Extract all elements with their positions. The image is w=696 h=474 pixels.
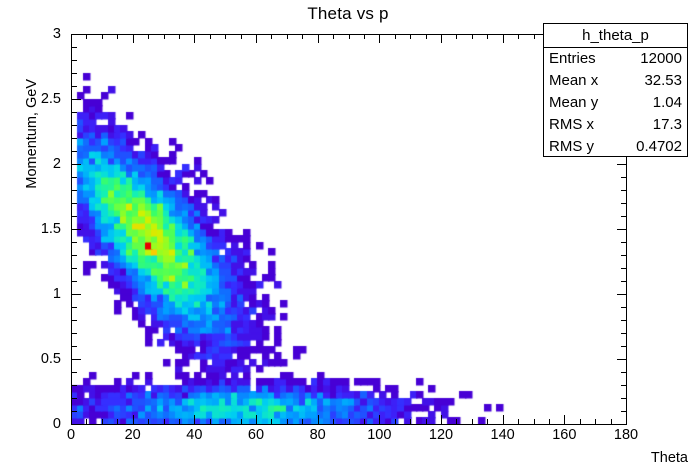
x-tick bbox=[364, 419, 365, 424]
x-tick-top bbox=[179, 34, 180, 39]
page-title: Theta vs p bbox=[0, 4, 696, 24]
x-tick-top bbox=[102, 34, 103, 39]
y-tick bbox=[72, 34, 81, 35]
y-tick bbox=[72, 86, 77, 87]
y-tick-right bbox=[617, 294, 626, 295]
x-tick bbox=[117, 419, 118, 424]
y-tick-label: 2.5 bbox=[41, 91, 61, 107]
x-tick-top bbox=[164, 34, 165, 39]
x-tick bbox=[287, 419, 288, 424]
y-tick bbox=[72, 268, 77, 269]
x-tick-top bbox=[534, 34, 535, 39]
x-tick bbox=[133, 415, 134, 424]
x-tick bbox=[86, 419, 87, 424]
y-tick-right bbox=[617, 424, 626, 425]
y-tick bbox=[72, 255, 77, 256]
y-tick bbox=[72, 125, 77, 126]
x-tick-top bbox=[302, 34, 303, 39]
x-tick-top bbox=[395, 34, 396, 39]
x-tick-label: 100 bbox=[367, 427, 391, 443]
y-axis-title-wrapper: Momentum, GeV bbox=[14, 45, 34, 245]
y-tick bbox=[72, 385, 77, 386]
y-tick-right bbox=[621, 346, 626, 347]
x-tick-label: 140 bbox=[491, 427, 515, 443]
x-tick-top bbox=[518, 34, 519, 39]
y-tick bbox=[72, 151, 77, 152]
x-tick bbox=[179, 419, 180, 424]
x-tick bbox=[349, 419, 350, 424]
x-tick-top bbox=[271, 34, 272, 39]
y-tick bbox=[72, 307, 77, 308]
y-tick-right bbox=[621, 216, 626, 217]
x-tick-top bbox=[225, 34, 226, 39]
y-tick-label: 0 bbox=[53, 416, 61, 432]
stats-box[interactable]: h_theta_p Entries12000Mean x32.53Mean y1… bbox=[543, 23, 688, 157]
x-tick-top bbox=[379, 34, 380, 43]
x-tick bbox=[256, 415, 257, 424]
y-tick bbox=[72, 203, 77, 204]
x-tick-top bbox=[364, 34, 365, 39]
y-tick bbox=[72, 398, 77, 399]
y-tick-right bbox=[621, 385, 626, 386]
y-tick-right bbox=[621, 203, 626, 204]
y-tick-right bbox=[621, 372, 626, 373]
x-tick-top bbox=[194, 34, 195, 43]
x-tick-top bbox=[487, 34, 488, 39]
x-tick bbox=[441, 415, 442, 424]
stats-row: Mean y1.04 bbox=[544, 92, 687, 114]
stats-value: 12000 bbox=[640, 48, 682, 70]
x-tick-top bbox=[318, 34, 319, 43]
y-tick bbox=[72, 190, 77, 191]
y-tick-label: 1.5 bbox=[41, 221, 61, 237]
y-tick bbox=[72, 229, 81, 230]
x-axis-title: Theta bbox=[651, 450, 688, 466]
x-tick-label: 60 bbox=[248, 427, 264, 443]
y-tick bbox=[72, 333, 77, 334]
x-tick-label: 180 bbox=[614, 427, 638, 443]
x-tick-top bbox=[426, 34, 427, 39]
x-tick bbox=[611, 419, 612, 424]
x-tick bbox=[549, 419, 550, 424]
stats-key: RMS y bbox=[549, 136, 594, 158]
x-tick-top bbox=[133, 34, 134, 43]
y-tick bbox=[72, 372, 77, 373]
root-canvas: Theta vs p 02040608010012014016018000.51… bbox=[0, 0, 696, 474]
x-tick bbox=[472, 419, 473, 424]
x-tick bbox=[580, 419, 581, 424]
stats-value: 1.04 bbox=[653, 92, 682, 114]
x-tick bbox=[102, 419, 103, 424]
stats-row: RMS y0.4702 bbox=[544, 136, 687, 158]
y-tick bbox=[72, 216, 77, 217]
x-tick bbox=[71, 415, 72, 424]
stats-value: 32.53 bbox=[644, 70, 682, 92]
stats-box-rows: Entries12000Mean x32.53Mean y1.04RMS x17… bbox=[544, 48, 687, 158]
stats-row: Mean x32.53 bbox=[544, 70, 687, 92]
y-tick bbox=[72, 60, 77, 61]
y-tick-right bbox=[621, 255, 626, 256]
x-tick bbox=[318, 415, 319, 424]
x-tick-top bbox=[86, 34, 87, 39]
stats-value: 17.3 bbox=[653, 114, 682, 136]
x-tick bbox=[426, 419, 427, 424]
y-tick bbox=[72, 281, 77, 282]
stats-value: 0.4702 bbox=[636, 136, 682, 158]
x-tick bbox=[164, 419, 165, 424]
y-tick bbox=[72, 242, 77, 243]
x-tick-top bbox=[148, 34, 149, 39]
y-tick-right bbox=[621, 190, 626, 191]
y-tick-right bbox=[621, 411, 626, 412]
y-tick-right bbox=[621, 242, 626, 243]
x-tick bbox=[518, 419, 519, 424]
x-tick-top bbox=[472, 34, 473, 39]
y-tick-label: 2 bbox=[53, 156, 61, 172]
x-tick bbox=[241, 419, 242, 424]
y-tick bbox=[72, 47, 77, 48]
x-tick bbox=[410, 419, 411, 424]
y-tick bbox=[72, 424, 81, 425]
y-tick-right bbox=[617, 229, 626, 230]
x-tick bbox=[302, 419, 303, 424]
y-tick-right bbox=[621, 177, 626, 178]
x-tick-top bbox=[333, 34, 334, 39]
y-tick-right bbox=[621, 320, 626, 321]
x-tick-top bbox=[456, 34, 457, 39]
y-tick-right bbox=[617, 359, 626, 360]
stats-row: RMS x17.3 bbox=[544, 114, 687, 136]
y-tick-right bbox=[621, 398, 626, 399]
x-tick-top bbox=[287, 34, 288, 39]
y-axis-title: Momentum, GeV bbox=[24, 79, 40, 189]
x-tick-top bbox=[71, 34, 72, 43]
stats-key: Mean x bbox=[549, 70, 598, 92]
x-tick-top bbox=[441, 34, 442, 43]
y-tick bbox=[72, 177, 77, 178]
x-tick bbox=[379, 415, 380, 424]
x-tick bbox=[534, 419, 535, 424]
y-tick bbox=[72, 411, 77, 412]
x-tick bbox=[456, 419, 457, 424]
y-tick bbox=[72, 294, 81, 295]
x-tick-label: 120 bbox=[429, 427, 453, 443]
y-tick-right bbox=[617, 164, 626, 165]
x-tick-top bbox=[256, 34, 257, 43]
x-tick bbox=[626, 415, 627, 424]
x-tick bbox=[595, 419, 596, 424]
y-tick-label: 1 bbox=[53, 286, 61, 302]
x-tick bbox=[194, 415, 195, 424]
x-tick bbox=[210, 419, 211, 424]
x-tick bbox=[487, 419, 488, 424]
x-tick-label: 20 bbox=[125, 427, 141, 443]
stats-key: Mean y bbox=[549, 92, 598, 114]
y-tick bbox=[72, 164, 81, 165]
stats-key: RMS x bbox=[549, 114, 594, 136]
y-tick-right bbox=[621, 268, 626, 269]
x-tick-top bbox=[117, 34, 118, 39]
x-tick bbox=[564, 415, 565, 424]
x-tick-label: 40 bbox=[186, 427, 202, 443]
x-axis-line bbox=[71, 424, 627, 425]
x-tick-label: 80 bbox=[310, 427, 326, 443]
x-tick bbox=[503, 415, 504, 424]
y-tick-label: 0.5 bbox=[41, 351, 61, 367]
y-tick bbox=[72, 99, 81, 100]
x-tick-top bbox=[410, 34, 411, 39]
stats-row: Entries12000 bbox=[544, 48, 687, 70]
x-tick-top bbox=[349, 34, 350, 39]
x-tick bbox=[225, 419, 226, 424]
stats-key: Entries bbox=[549, 48, 596, 70]
x-tick-top bbox=[210, 34, 211, 39]
y-tick bbox=[72, 320, 77, 321]
x-tick-label: 0 bbox=[67, 427, 75, 443]
y-tick bbox=[72, 73, 77, 74]
x-tick bbox=[333, 419, 334, 424]
y-tick-right bbox=[621, 281, 626, 282]
stats-box-title: h_theta_p bbox=[544, 24, 687, 48]
x-tick-top bbox=[241, 34, 242, 39]
x-tick-label: 160 bbox=[552, 427, 576, 443]
y-tick bbox=[72, 346, 77, 347]
y-tick bbox=[72, 359, 81, 360]
y-tick-label: 3 bbox=[53, 26, 61, 42]
x-tick-top bbox=[503, 34, 504, 43]
y-tick bbox=[72, 112, 77, 113]
y-tick-right bbox=[621, 307, 626, 308]
x-tick bbox=[395, 419, 396, 424]
y-tick-right bbox=[621, 333, 626, 334]
y-tick bbox=[72, 138, 77, 139]
x-tick bbox=[271, 419, 272, 424]
x-tick bbox=[148, 419, 149, 424]
